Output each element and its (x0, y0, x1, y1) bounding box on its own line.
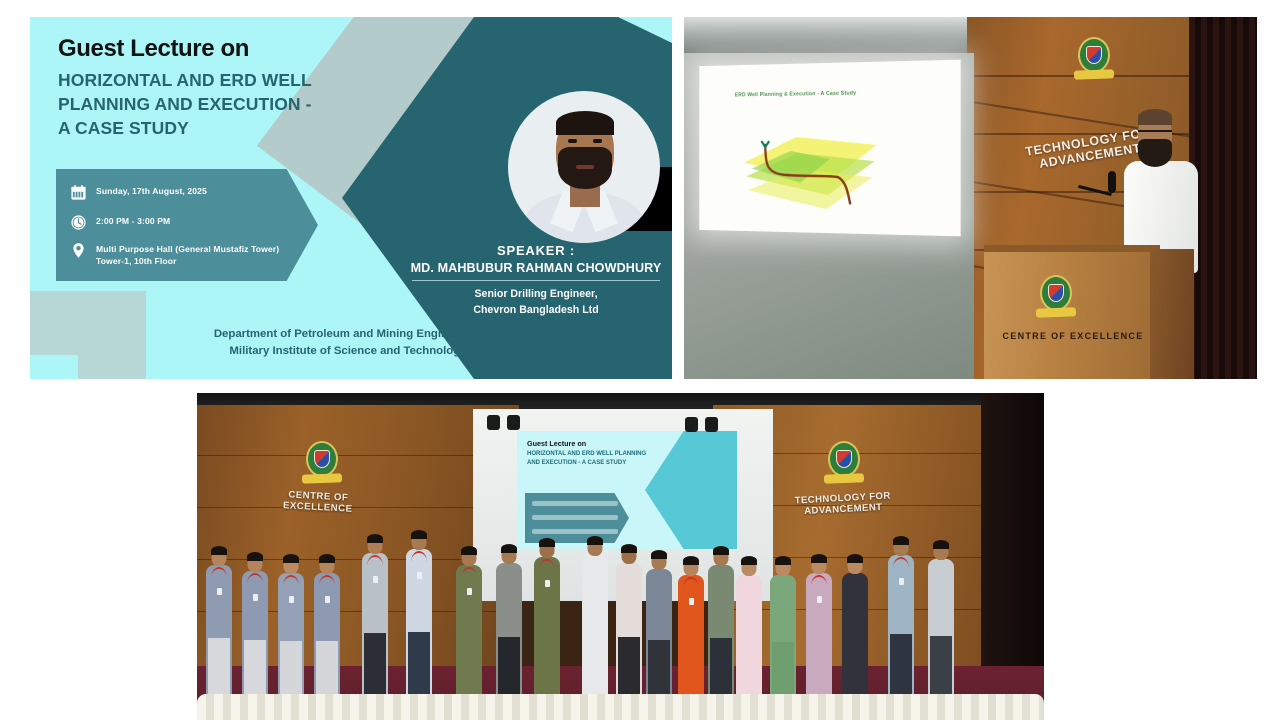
crest-ribbon (1074, 69, 1114, 79)
microphone-icon (1108, 171, 1116, 193)
flower-decoration-row (197, 694, 1044, 720)
attendee-legs (280, 641, 302, 698)
attendee-hair (893, 536, 909, 545)
slide-band-row (532, 515, 618, 520)
crest-ribbon (824, 473, 864, 483)
poster-title-line-2: PLANNING AND EXECUTION - (58, 92, 388, 116)
speaker-cap (1138, 109, 1172, 125)
attendee-legs (710, 638, 732, 698)
attendee-legs (584, 634, 606, 698)
attendee-hair (933, 540, 949, 549)
speaker-divider (412, 280, 660, 281)
well-trajectory-diagram (737, 118, 885, 220)
attendee-lanyard (811, 575, 827, 597)
calendar-icon (70, 184, 87, 201)
attendee-lanyard (411, 551, 427, 573)
attendee-id-badge (253, 594, 258, 601)
crest-shield (836, 450, 852, 468)
podium-mist-crest-icon (1036, 275, 1070, 317)
clock-icon (70, 214, 87, 231)
poster-detail-venue-text: Multi Purpose Hall (General Mustafiz Tow… (96, 241, 279, 268)
stage-light-icon (487, 415, 500, 430)
attendee-hair (539, 538, 555, 547)
poster-detail-date: Sunday, 17th August, 2025 (70, 183, 207, 201)
slide-title-main: Guest Lecture on (527, 439, 586, 448)
stage-light-icon (705, 417, 718, 432)
attendee-id-badge (545, 580, 550, 587)
attendee-hair (211, 546, 227, 555)
location-pin-icon (70, 242, 87, 259)
attendee-hair (651, 550, 667, 559)
attendee-id-badge (289, 596, 294, 603)
attendee-hair (461, 546, 477, 555)
attendee-id-badge (689, 598, 694, 605)
attendee-legs (680, 642, 702, 698)
attendee-lanyard (319, 575, 335, 597)
speaker-beard-shape (1138, 139, 1172, 167)
mist-crest-icon (1074, 37, 1114, 85)
slide-title-lines: HORIZONTAL AND ERD WELL PLANNING AND EXE… (527, 450, 657, 468)
stage-light-icon (685, 417, 698, 432)
attendee-legs (738, 642, 760, 698)
speaker-hair (556, 111, 614, 135)
attendee-legs (648, 640, 670, 698)
poster-decor-notch (30, 355, 78, 379)
attendee-hair (587, 536, 603, 545)
podium-text-centre-of-excellence: CENTRE OF EXCELLENCE (992, 331, 1154, 341)
poster-details-band: Sunday, 17th August, 2025 2:00 PM - 3:00… (56, 169, 318, 281)
podium-side-panel (1150, 249, 1194, 379)
attendee-lanyard (283, 575, 299, 597)
attendee-legs (498, 637, 520, 698)
poster-title-line-1: HORIZONTAL AND ERD WELL (58, 68, 388, 92)
attendee-hair (319, 554, 335, 563)
crest-ribbon (302, 473, 342, 483)
speaker-role-line-1: Senior Drilling Engineer, (398, 287, 672, 303)
photo-podium-speaker: ERD Well Planning & Execution - A Case S… (684, 17, 1257, 379)
crest-shield (1086, 46, 1102, 64)
attendee-hair (367, 534, 383, 543)
attendee-lanyard (367, 555, 383, 577)
attendee-lanyard (247, 573, 263, 595)
group-left-mist-crest-icon (302, 441, 336, 483)
speaker-name: MD. MAHBUBUR RAHMAN CHOWDHURY (398, 261, 672, 275)
attendee-hair (683, 556, 699, 565)
crest-shield (314, 450, 330, 468)
projected-slide-title: ERD Well Planning & Execution - A Case S… (735, 90, 857, 98)
poster-detail-time: 2:00 PM - 3:00 PM (70, 213, 170, 231)
crest-ribbon (1036, 307, 1076, 317)
attendee-hair (283, 554, 299, 563)
speaker-role-line-2: Chevron Bangladesh Ltd (398, 303, 672, 319)
attendee-hair (775, 556, 791, 565)
speaker-eye-left (568, 139, 577, 143)
slide-details-band (525, 493, 629, 543)
stage-light-icon (507, 415, 520, 430)
attendee-hair (847, 554, 863, 563)
poster-title-line-3: A CASE STUDY (58, 116, 388, 140)
attendee-legs (930, 636, 952, 698)
attendee-legs (808, 641, 830, 698)
glasses-icon (1138, 130, 1172, 135)
wall-plank (197, 455, 519, 456)
attendee-legs (244, 640, 266, 698)
speaker-mouth (576, 165, 594, 169)
projection-screen: ERD Well Planning & Execution - A Case S… (699, 60, 960, 237)
attendee-legs (316, 641, 338, 698)
attendee-hair (501, 544, 517, 553)
crest-shield (1048, 284, 1064, 302)
attendee-legs (208, 638, 230, 698)
attendee-legs (890, 634, 912, 698)
poster-title-block: Guest Lecture on HORIZONTAL AND ERD WELL… (58, 35, 388, 140)
poster-detail-time-text: 2:00 PM - 3:00 PM (96, 213, 170, 227)
poster-title-main: Guest Lecture on (58, 35, 388, 64)
event-poster: Guest Lecture on HORIZONTAL AND ERD WELL… (30, 17, 672, 379)
attendee-legs (772, 642, 794, 698)
attendee-hair (811, 554, 827, 563)
attendee-id-badge (899, 578, 904, 585)
attendee-id-badge (325, 596, 330, 603)
attendee-id-badge (817, 596, 822, 603)
attendee-hair (247, 552, 263, 561)
attendee-id-badge (373, 576, 378, 583)
attendee-id-badge (417, 572, 422, 579)
speaker-label: SPEAKER : (398, 243, 672, 258)
group-right-mist-crest-icon (824, 441, 856, 481)
photo-group-attendees: Guest Lecture on HORIZONTAL AND ERD WELL… (197, 393, 1044, 720)
attendee-legs (844, 641, 866, 698)
slide-band-row (532, 501, 618, 506)
slide-chevron-shape (645, 431, 737, 549)
attendee-legs (364, 633, 386, 698)
poster-department-block: Department of Petroleum and Mining Engin… (160, 326, 536, 361)
attendee-id-badge (217, 588, 222, 595)
attendee-lanyard (539, 559, 555, 581)
attendee-lanyard (211, 567, 227, 589)
attendee-legs (458, 638, 480, 698)
attendee-legs (618, 637, 640, 698)
attendee-id-badge (467, 588, 472, 595)
slide-band-row (532, 529, 618, 534)
poster-detail-venue: Multi Purpose Hall (General Mustafiz Tow… (70, 241, 279, 268)
speaker-eye-right (593, 139, 602, 143)
attendee-hair (741, 556, 757, 565)
attendee-lanyard (683, 577, 699, 599)
attendee-lanyard (461, 567, 477, 589)
attendee-lanyard (893, 557, 909, 579)
speaker-info-block: SPEAKER : MD. MAHBUBUR RAHMAN CHOWDHURY … (398, 243, 672, 319)
speaker-portrait (508, 91, 660, 243)
poster-department-line-2: Military Institute of Science and Techno… (160, 343, 536, 361)
attendee-hair (713, 546, 729, 555)
collage-canvas: Guest Lecture on HORIZONTAL AND ERD WELL… (0, 0, 1280, 720)
attendee-hair (621, 544, 637, 553)
poster-department-line-1: Department of Petroleum and Mining Engin… (160, 326, 536, 344)
attendee-legs (536, 635, 558, 698)
attendee-hair (411, 530, 427, 539)
attendee-legs (408, 632, 430, 698)
poster-detail-date-text: Sunday, 17th August, 2025 (96, 183, 207, 197)
projected-poster-slide: Guest Lecture on HORIZONTAL AND ERD WELL… (517, 431, 737, 549)
